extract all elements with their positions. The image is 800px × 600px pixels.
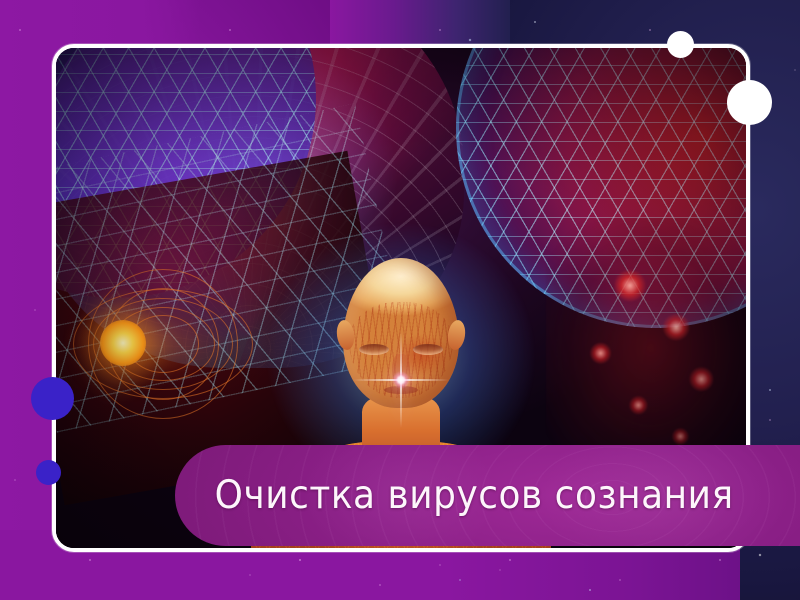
- red-nebula-icon: [546, 218, 746, 478]
- page-title: Очистка вирусов сознания: [215, 473, 760, 518]
- white-circle-small-decoration: [667, 31, 694, 58]
- third-eye-icon: [353, 332, 449, 428]
- white-circle-large-decoration: [727, 80, 772, 125]
- sun-mandala-core: [100, 320, 146, 366]
- title-banner: Очистка вирусов сознания: [175, 445, 800, 546]
- blue-circle-large-decoration: [31, 377, 74, 420]
- sun-mandala-icon: [56, 244, 278, 444]
- blue-circle-small-decoration: [36, 460, 61, 485]
